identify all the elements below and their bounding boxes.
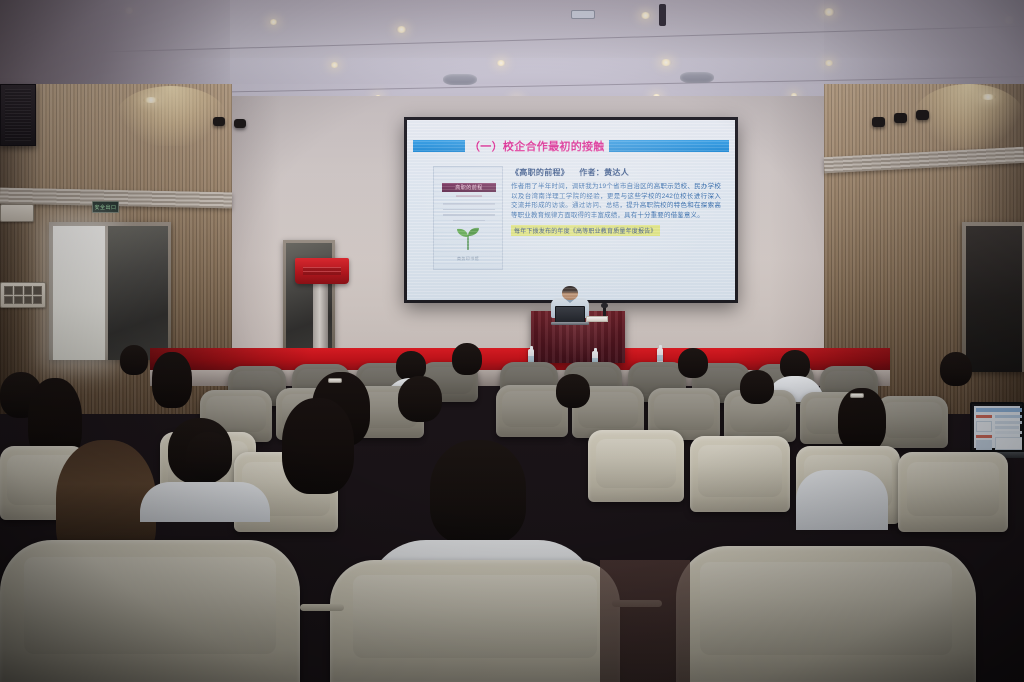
attendee-shoulders <box>140 482 270 522</box>
seat <box>330 560 620 682</box>
attendee-head <box>186 432 232 480</box>
ceiling-spotlight-left <box>213 117 225 126</box>
seat <box>876 396 948 448</box>
auditorium-scene: 安全出口 （一）校企合作最初的接触 高职的前 <box>0 0 1024 682</box>
laptop-screen-content <box>974 406 1020 448</box>
attendee-head <box>120 345 148 375</box>
ceiling-downlight <box>396 26 407 33</box>
door-left-glass <box>108 226 168 360</box>
seat-armrest <box>300 604 344 611</box>
attendee-head <box>398 376 442 422</box>
slide-title: （一）校企合作最初的接触 <box>469 138 605 154</box>
book-cover-subtitle-rule <box>456 195 482 197</box>
attendee-head <box>678 348 708 378</box>
ceiling-spotlight-left <box>234 119 246 128</box>
hair-clip <box>328 378 342 383</box>
speaker-grill <box>5 89 31 141</box>
wall-control-panel-left[interactable] <box>0 204 34 222</box>
ceiling-downlight <box>660 59 672 66</box>
slide-heading: 《高职的前程》 作者：黄达人 <box>511 167 721 178</box>
seat <box>0 540 300 682</box>
wall-switch-panel-left[interactable] <box>0 282 46 308</box>
name-plate <box>586 316 608 322</box>
center-aisle <box>600 560 690 682</box>
projection-screen[interactable]: （一）校企合作最初的接触 高职的前程 商务印书馆 <box>404 117 738 303</box>
wall-light-left <box>143 97 159 103</box>
book-cover-publisher: 商务印书馆 <box>434 256 502 262</box>
ceiling-downlight <box>640 12 651 19</box>
ceiling-spotlight-right <box>894 113 907 123</box>
door-right <box>966 226 1022 372</box>
wall-switch[interactable] <box>24 296 33 305</box>
presenter-laptop-base <box>551 322 589 325</box>
presenter-head <box>562 286 578 300</box>
exit-sign: 安全出口 <box>92 201 119 213</box>
ceiling-air-vent <box>443 74 477 85</box>
book-cover-title: 高职的前程 <box>442 183 496 192</box>
slide-text-column: 《高职的前程》 作者：黄达人 作者用了半年时间，调研我为19个省市自治区的高职示… <box>511 166 721 292</box>
exit-sign-label: 安全出口 <box>94 204 116 211</box>
ceiling-downlight <box>496 60 506 66</box>
slide-paragraph: 作者用了半年时间，调研我为19个省市自治区的高职示范校、民办学校以及台湾南洋理工… <box>511 182 721 220</box>
seat <box>898 452 1008 532</box>
slide-title-bar-right <box>609 140 729 152</box>
wall-switch[interactable] <box>33 286 42 295</box>
attendee-head <box>556 374 590 408</box>
doorway-left-open <box>53 226 105 360</box>
attendee-head <box>452 343 482 375</box>
wall-switch[interactable] <box>4 286 13 295</box>
ceiling-downlight <box>330 62 339 68</box>
slide-title-bar-left <box>413 140 465 152</box>
wall-switch[interactable] <box>4 296 13 305</box>
attendee-head <box>430 440 526 544</box>
wall-switch[interactable] <box>33 296 42 305</box>
laptop-screen[interactable] <box>970 402 1024 452</box>
attendee-shoulders <box>796 470 888 530</box>
wall-switch[interactable] <box>14 296 23 305</box>
slide-surface: （一）校企合作最初的接触 高职的前程 商务印书馆 <box>407 120 735 300</box>
ceiling-air-vent <box>680 72 714 83</box>
red-podium[interactable] <box>295 258 349 284</box>
wall-switch[interactable] <box>14 286 23 295</box>
wall-switch[interactable] <box>24 286 33 295</box>
seat <box>690 436 790 512</box>
ceiling-plate <box>571 10 595 19</box>
slide-title-row: （一）校企合作最初的接触 <box>413 137 729 154</box>
attendee-head <box>152 352 192 408</box>
slide-highlight-line: 每年下拨发布的年度《高等职业教育质量年度报告》 <box>511 225 660 236</box>
slide-author: 作者：黄达人 <box>579 168 629 177</box>
attendee-head <box>740 370 774 404</box>
ceiling-projector-mount <box>659 4 666 26</box>
slide-body: 高职的前程 商务印书馆 《高职的前程》 <box>433 166 721 292</box>
presenter-laptop <box>555 306 585 323</box>
sprout-icon <box>453 225 483 251</box>
switch-grid[interactable] <box>4 286 42 304</box>
slide-book-name: 《高职的前程》 <box>511 168 569 177</box>
book-cover-lines <box>443 203 495 225</box>
wall-light-right <box>980 94 996 100</box>
ceiling-spotlight-right <box>872 117 885 127</box>
attendee-head <box>940 352 972 386</box>
seat <box>588 430 684 502</box>
book-cover-image: 高职的前程 商务印书馆 <box>433 166 503 270</box>
ceiling-downlight <box>269 19 278 25</box>
hair-clip <box>850 393 864 398</box>
seat <box>676 546 976 682</box>
attendee-head <box>282 398 354 494</box>
wall-speaker-left <box>0 84 36 146</box>
ceiling-spotlight-right <box>916 110 929 120</box>
